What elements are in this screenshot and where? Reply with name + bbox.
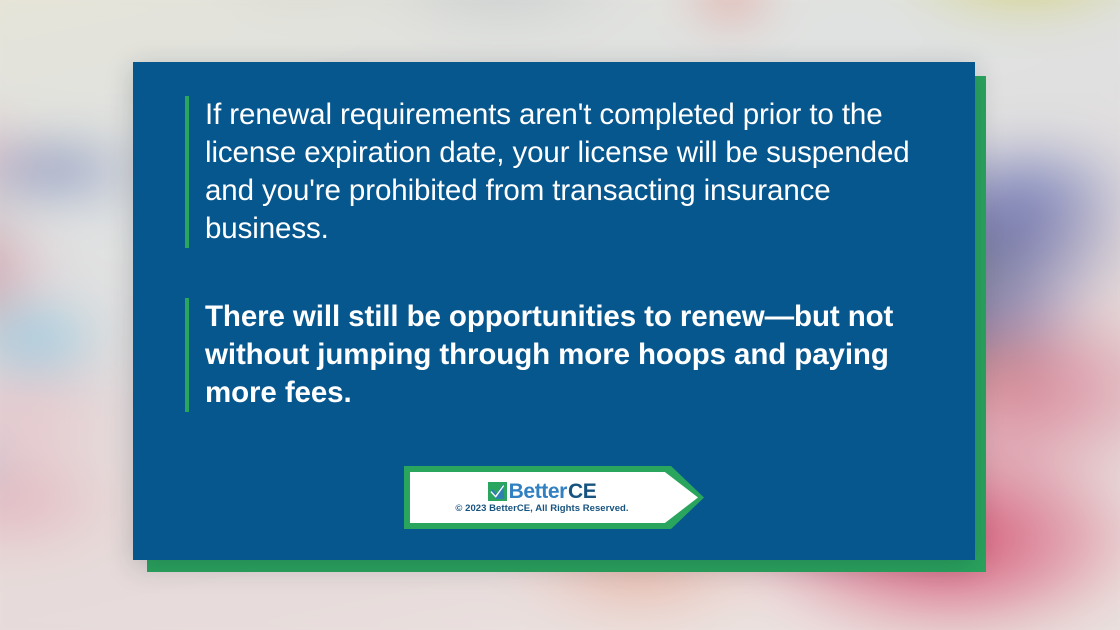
quote-primary-text: If renewal requirements aren't completed… — [185, 96, 935, 248]
graphic-canvas: If renewal requirements aren't completed… — [0, 0, 1120, 630]
brand-badge-content: Better CE © 2023 BetterCE, All Rights Re… — [404, 472, 680, 523]
brand-badge: Better CE © 2023 BetterCE, All Rights Re… — [404, 466, 704, 529]
brand-logo-text-ce: CE — [568, 481, 596, 502]
green-check-square-icon — [488, 482, 507, 501]
copyright-text: © 2023 BetterCE, All Rights Reserved. — [455, 503, 628, 514]
quote-card: If renewal requirements aren't completed… — [133, 62, 975, 560]
brand-logo-text-better: Better — [509, 481, 567, 502]
quote-secondary-text: There will still be opportunities to ren… — [185, 298, 935, 412]
brand-logo: Better CE — [488, 481, 597, 502]
